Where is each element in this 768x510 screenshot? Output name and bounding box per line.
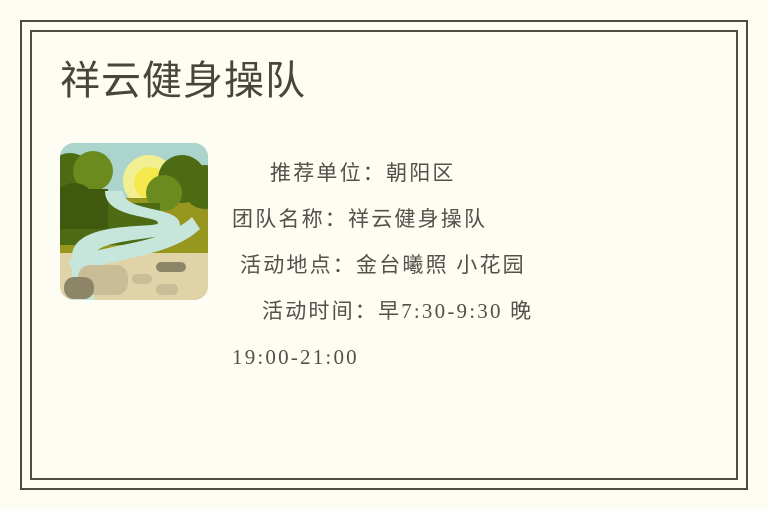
poster-content: 祥云健身操队 bbox=[32, 32, 736, 478]
detail-line-recommending-unit: 推荐单位：朝阳区 bbox=[232, 150, 620, 196]
poster-page: 祥云健身操队 bbox=[0, 0, 768, 510]
detail-line-time-morning: 活动时间：早7:30-9:30 晚 bbox=[232, 288, 620, 334]
detail-line-location: 活动地点：金台曦照 小花园 bbox=[232, 242, 620, 288]
team-details-block: 推荐单位：朝阳区 团队名称：祥云健身操队 活动地点：金台曦照 小花园 活动时间：… bbox=[232, 150, 620, 380]
landscape-illustration-icon bbox=[60, 143, 208, 300]
page-title: 祥云健身操队 bbox=[60, 58, 306, 104]
landscape-thumbnail bbox=[60, 143, 208, 300]
detail-line-team-name: 团队名称：祥云健身操队 bbox=[232, 196, 620, 242]
detail-line-time-evening: 19:00-21:00 bbox=[232, 334, 620, 380]
